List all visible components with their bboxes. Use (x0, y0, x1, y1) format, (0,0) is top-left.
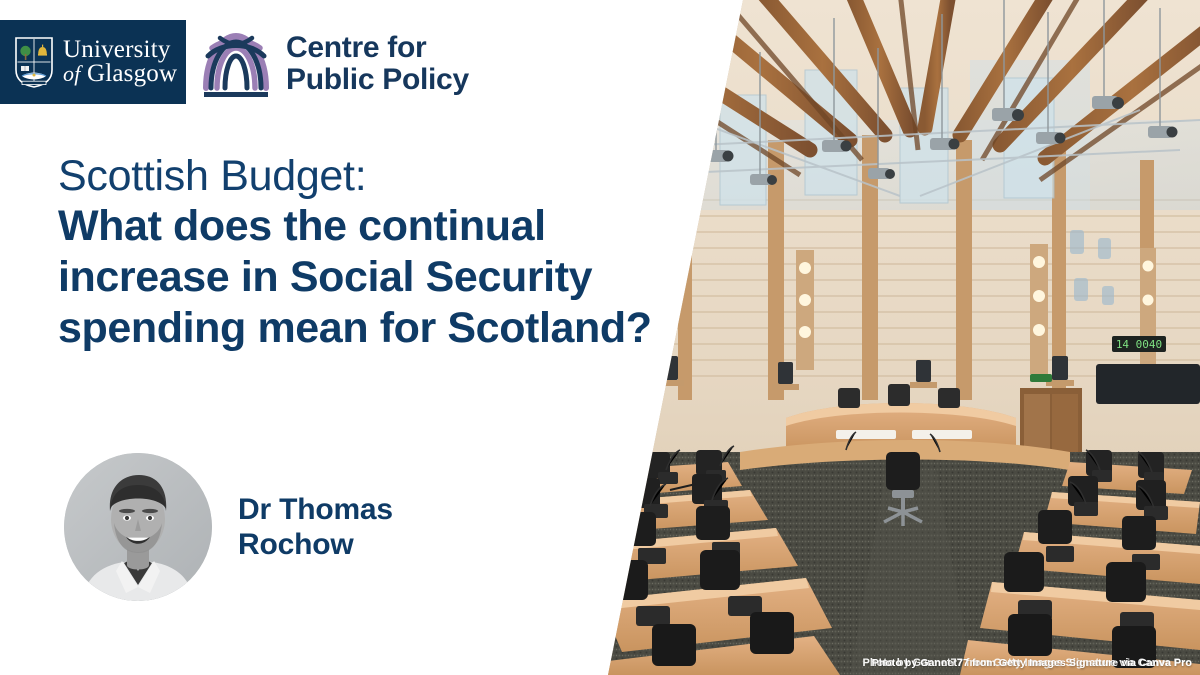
headshot-illustration-icon (64, 453, 212, 601)
university-wordmark: University of Glasgow (63, 38, 177, 86)
photo-credit: Photo by Gannet77 from Getty Images Sign… (872, 657, 1192, 669)
headline-block: Scottish Budget: What does the continual… (58, 152, 658, 353)
university-wordmark-line1: University (63, 38, 177, 62)
author-block: Dr Thomas Rochow (64, 453, 448, 601)
headline-kicker: Scottish Budget: (58, 152, 658, 200)
cpp-wordmark-line2: Public Policy (286, 64, 469, 96)
centre-for-public-policy-arch-icon (200, 26, 272, 102)
cpp-wordmark-line1: Centre for (286, 32, 469, 64)
logo-bar: University of Glasgow (0, 0, 620, 124)
university-of-glasgow-logo: University of Glasgow (0, 20, 186, 104)
headline-title: What does the continual increase in Soci… (58, 201, 658, 353)
centre-for-public-policy-logo: Centre for Public Policy (200, 26, 469, 102)
centre-for-public-policy-wordmark: Centre for Public Policy (286, 32, 469, 96)
parliament-chamber-illustration: 14 0040 (600, 0, 1200, 675)
avatar (64, 453, 212, 601)
svg-text:14 0040: 14 0040 (1116, 338, 1162, 351)
hero-photo: 14 0040 (600, 0, 1200, 675)
university-wordmark-line2: of Glasgow (63, 62, 177, 86)
university-of-glasgow-crest-icon (14, 36, 54, 88)
author-name: Dr Thomas Rochow (238, 492, 448, 562)
social-card-slide: University of Glasgow (0, 0, 1200, 675)
